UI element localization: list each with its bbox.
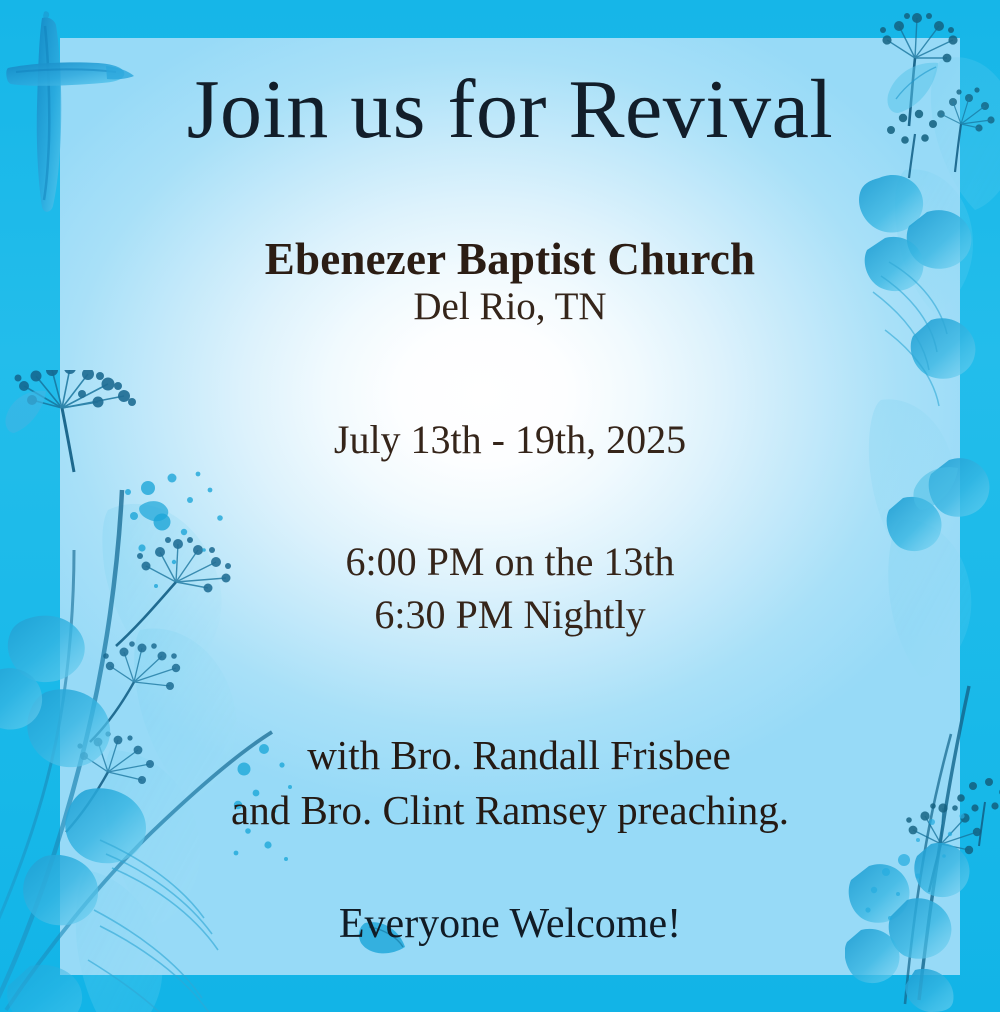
church-location: Del Rio, TN: [60, 284, 960, 330]
preacher-line-one: with Bro. Randall Frisbee: [60, 728, 960, 783]
first-night-time: 6:00 PM on the 13th: [60, 536, 960, 589]
welcome-message: Everyone Welcome!: [60, 899, 960, 949]
page-title: Join us for Revival: [60, 66, 960, 154]
church-name: Ebenezer Baptist Church: [60, 234, 960, 284]
revival-flyer: Join us for Revival Ebenezer Baptist Chu…: [0, 0, 1000, 1012]
event-times: 6:00 PM on the 13th 6:30 PM Nightly: [60, 536, 960, 642]
flyer-details: Ebenezer Baptist Church Del Rio, TN July…: [60, 234, 960, 949]
flyer-content: Join us for Revival Ebenezer Baptist Chu…: [60, 38, 960, 975]
preacher-line-two: and Bro. Clint Ramsey preaching.: [60, 783, 960, 838]
event-dates: July 13th - 19th, 2025: [60, 416, 960, 464]
nightly-time: 6:30 PM Nightly: [60, 589, 960, 642]
preacher-credits: with Bro. Randall Frisbee and Bro. Clint…: [60, 728, 960, 837]
